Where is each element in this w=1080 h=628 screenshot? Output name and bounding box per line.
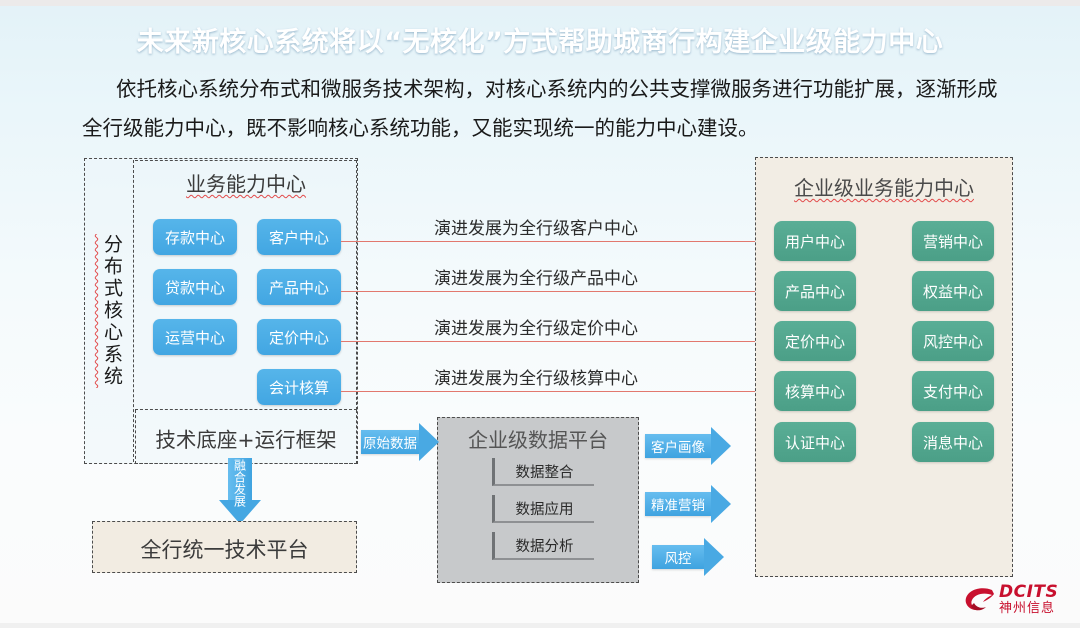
raw-data-arrow: 原始数据 [361, 423, 439, 461]
output-arrow-label-risk-control: 风控 [652, 545, 704, 569]
output-arrow-customer-profile: 客户画像 [645, 427, 731, 465]
dcits-logo: DCITS 神州信息 [962, 578, 1074, 622]
dcits-logo-cn: 神州信息 [999, 602, 1058, 616]
dcits-logo-en: DCITS [999, 584, 1058, 602]
biz-center-title-text: 业务能力中心 [186, 172, 306, 196]
ent-box-risk[interactable]: 风控中心 [912, 321, 994, 361]
enterprise-business-capability-panel [755, 157, 1013, 577]
dcits-logo-text: DCITS 神州信息 [999, 584, 1058, 615]
business-capability-center-title: 业务能力中心 [135, 168, 357, 197]
unified-tech-platform-label: 全行统一技术平台 [92, 534, 357, 564]
core-box-accounting[interactable]: 会计核算 [257, 369, 341, 405]
evolution-label-product: 演进发展为全行级产品中心 [434, 264, 638, 289]
enterprise-business-capability-title: 企业级业务能力中心 [755, 172, 1013, 201]
raw-data-arrow-tip [419, 423, 439, 461]
evolution-line-product [341, 291, 761, 292]
core-box-pricing[interactable]: 定价中心 [257, 319, 341, 355]
evolution-label-pricing: 演进发展为全行级定价中心 [434, 314, 638, 339]
output-arrow-label-customer-profile: 客户画像 [645, 434, 711, 458]
evolution-line-pricing [341, 341, 761, 342]
core-box-operation[interactable]: 运营中心 [153, 319, 237, 355]
core-box-customer[interactable]: 客户中心 [257, 219, 341, 255]
distributed-core-system-label: 分布式核心系统 [86, 160, 136, 462]
ent-box-rights[interactable]: 权益中心 [912, 271, 994, 311]
core-box-deposit[interactable]: 存款中心 [153, 219, 237, 255]
ent-box-pricing[interactable]: 定价中心 [774, 321, 856, 361]
evolution-line-customer [341, 241, 761, 242]
evolution-label-accounting: 演进发展为全行级核算中心 [434, 364, 638, 389]
slide-canvas: 未来新核心系统将以“无核化”方式帮助城商行构建企业级能力中心 依托核心系统分布式… [0, 0, 1080, 628]
output-arrow-precision-marketing: 精准营销 [645, 485, 731, 523]
page-title: 未来新核心系统将以“无核化”方式帮助城商行构建企业级能力中心 [0, 20, 1080, 59]
page-subtitle: 依托核心系统分布式和微服务技术架构，对核心系统内的公共支撑微服务进行功能扩展，逐… [82, 70, 1012, 148]
dcits-logo-icon [962, 583, 996, 617]
output-arrow-risk-control: 风控 [652, 538, 724, 576]
core-box-product[interactable]: 产品中心 [257, 269, 341, 305]
core-box-loan[interactable]: 贷款中心 [153, 269, 237, 305]
evolution-line-accounting [341, 391, 761, 392]
tech-base-label: 技术底座+运行框架 [135, 423, 357, 453]
ent-box-authentication[interactable]: 认证中心 [774, 422, 856, 462]
data-platform-item-application[interactable]: 数据应用 [492, 495, 594, 523]
top-edge-strip [0, 0, 1080, 6]
data-platform-item-analysis[interactable]: 数据分析 [492, 532, 594, 560]
enterprise-data-platform-title: 企业级数据平台 [437, 424, 639, 453]
ent-box-product[interactable]: 产品中心 [774, 271, 856, 311]
ent-box-accounting[interactable]: 核算中心 [774, 371, 856, 411]
ent-box-marketing[interactable]: 营销中心 [912, 221, 994, 261]
ent-box-message[interactable]: 消息中心 [912, 422, 994, 462]
output-arrow-tip-customer-profile [711, 427, 731, 465]
fusion-development-label: 融合发展 [219, 458, 261, 508]
ent-box-payment[interactable]: 支付中心 [912, 371, 994, 411]
data-platform-item-integration[interactable]: 数据整合 [492, 458, 594, 486]
raw-data-arrow-label: 原始数据 [361, 430, 419, 454]
ent-box-user[interactable]: 用户中心 [774, 221, 856, 261]
output-arrow-tip-risk-control [704, 538, 724, 576]
fusion-development-text: 融合发展 [232, 459, 249, 507]
output-arrow-label-precision-marketing: 精准营销 [645, 492, 711, 516]
evolution-label-customer: 演进发展为全行级客户中心 [434, 214, 638, 239]
enterprise-center-title-text: 企业级业务能力中心 [794, 176, 974, 200]
core-vertical-text: 分布式核心系统 [101, 234, 121, 388]
bottom-edge-strip [0, 623, 1080, 628]
output-arrow-tip-precision-marketing [711, 485, 731, 523]
